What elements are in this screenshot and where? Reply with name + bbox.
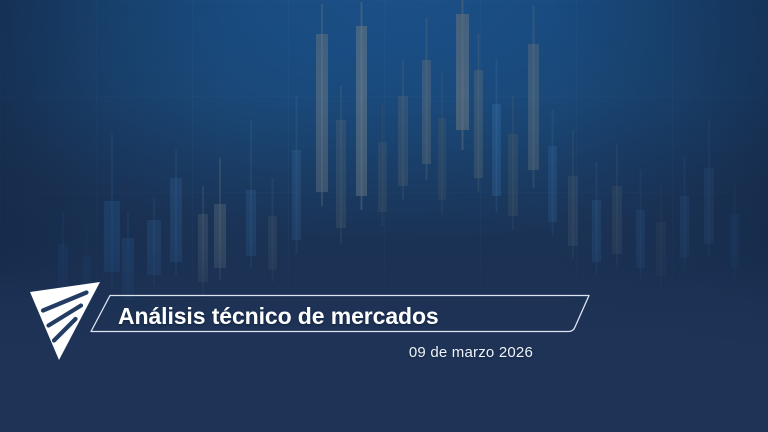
slide-date: 09 de marzo 2026	[0, 344, 533, 361]
background-vignette	[0, 0, 768, 432]
presentation-slide: Análisis técnico de mercados 09 de marzo…	[0, 0, 768, 432]
page-title: Análisis técnico de mercados	[118, 299, 558, 333]
